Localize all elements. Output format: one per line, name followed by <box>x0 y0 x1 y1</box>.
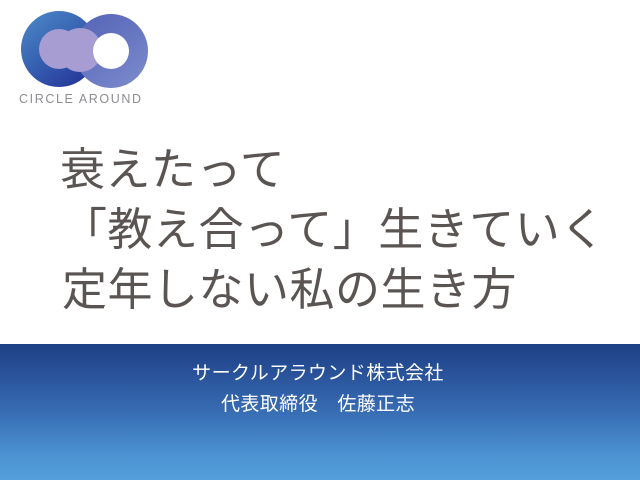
title-slide: CIRCLE AROUND 衰えたって 「教え合って」生きていく 定年しない私の… <box>0 0 640 480</box>
headline: 衰えたって 「教え合って」生きていく 定年しない私の生き方 <box>0 140 640 320</box>
presenter-title-and-name: 代表取締役 佐藤正志 <box>0 389 636 420</box>
headline-line-2: 「教え合って」生きていく <box>0 200 640 260</box>
logo-block: CIRCLE AROUND <box>14 10 184 106</box>
company-name: サークルアラウンド株式会社 <box>0 358 636 389</box>
headline-line-1: 衰えたって <box>0 140 640 200</box>
footer-band: サークルアラウンド株式会社 代表取締役 佐藤正志 <box>0 344 640 480</box>
circle-around-logo-mark <box>20 10 152 88</box>
footer-text-group: サークルアラウンド株式会社 代表取締役 佐藤正志 <box>0 358 636 420</box>
logo-right-inner-hole <box>93 33 129 69</box>
logo-wordmark: CIRCLE AROUND <box>19 92 184 106</box>
headline-line-3: 定年しない私の生き方 <box>0 260 640 320</box>
